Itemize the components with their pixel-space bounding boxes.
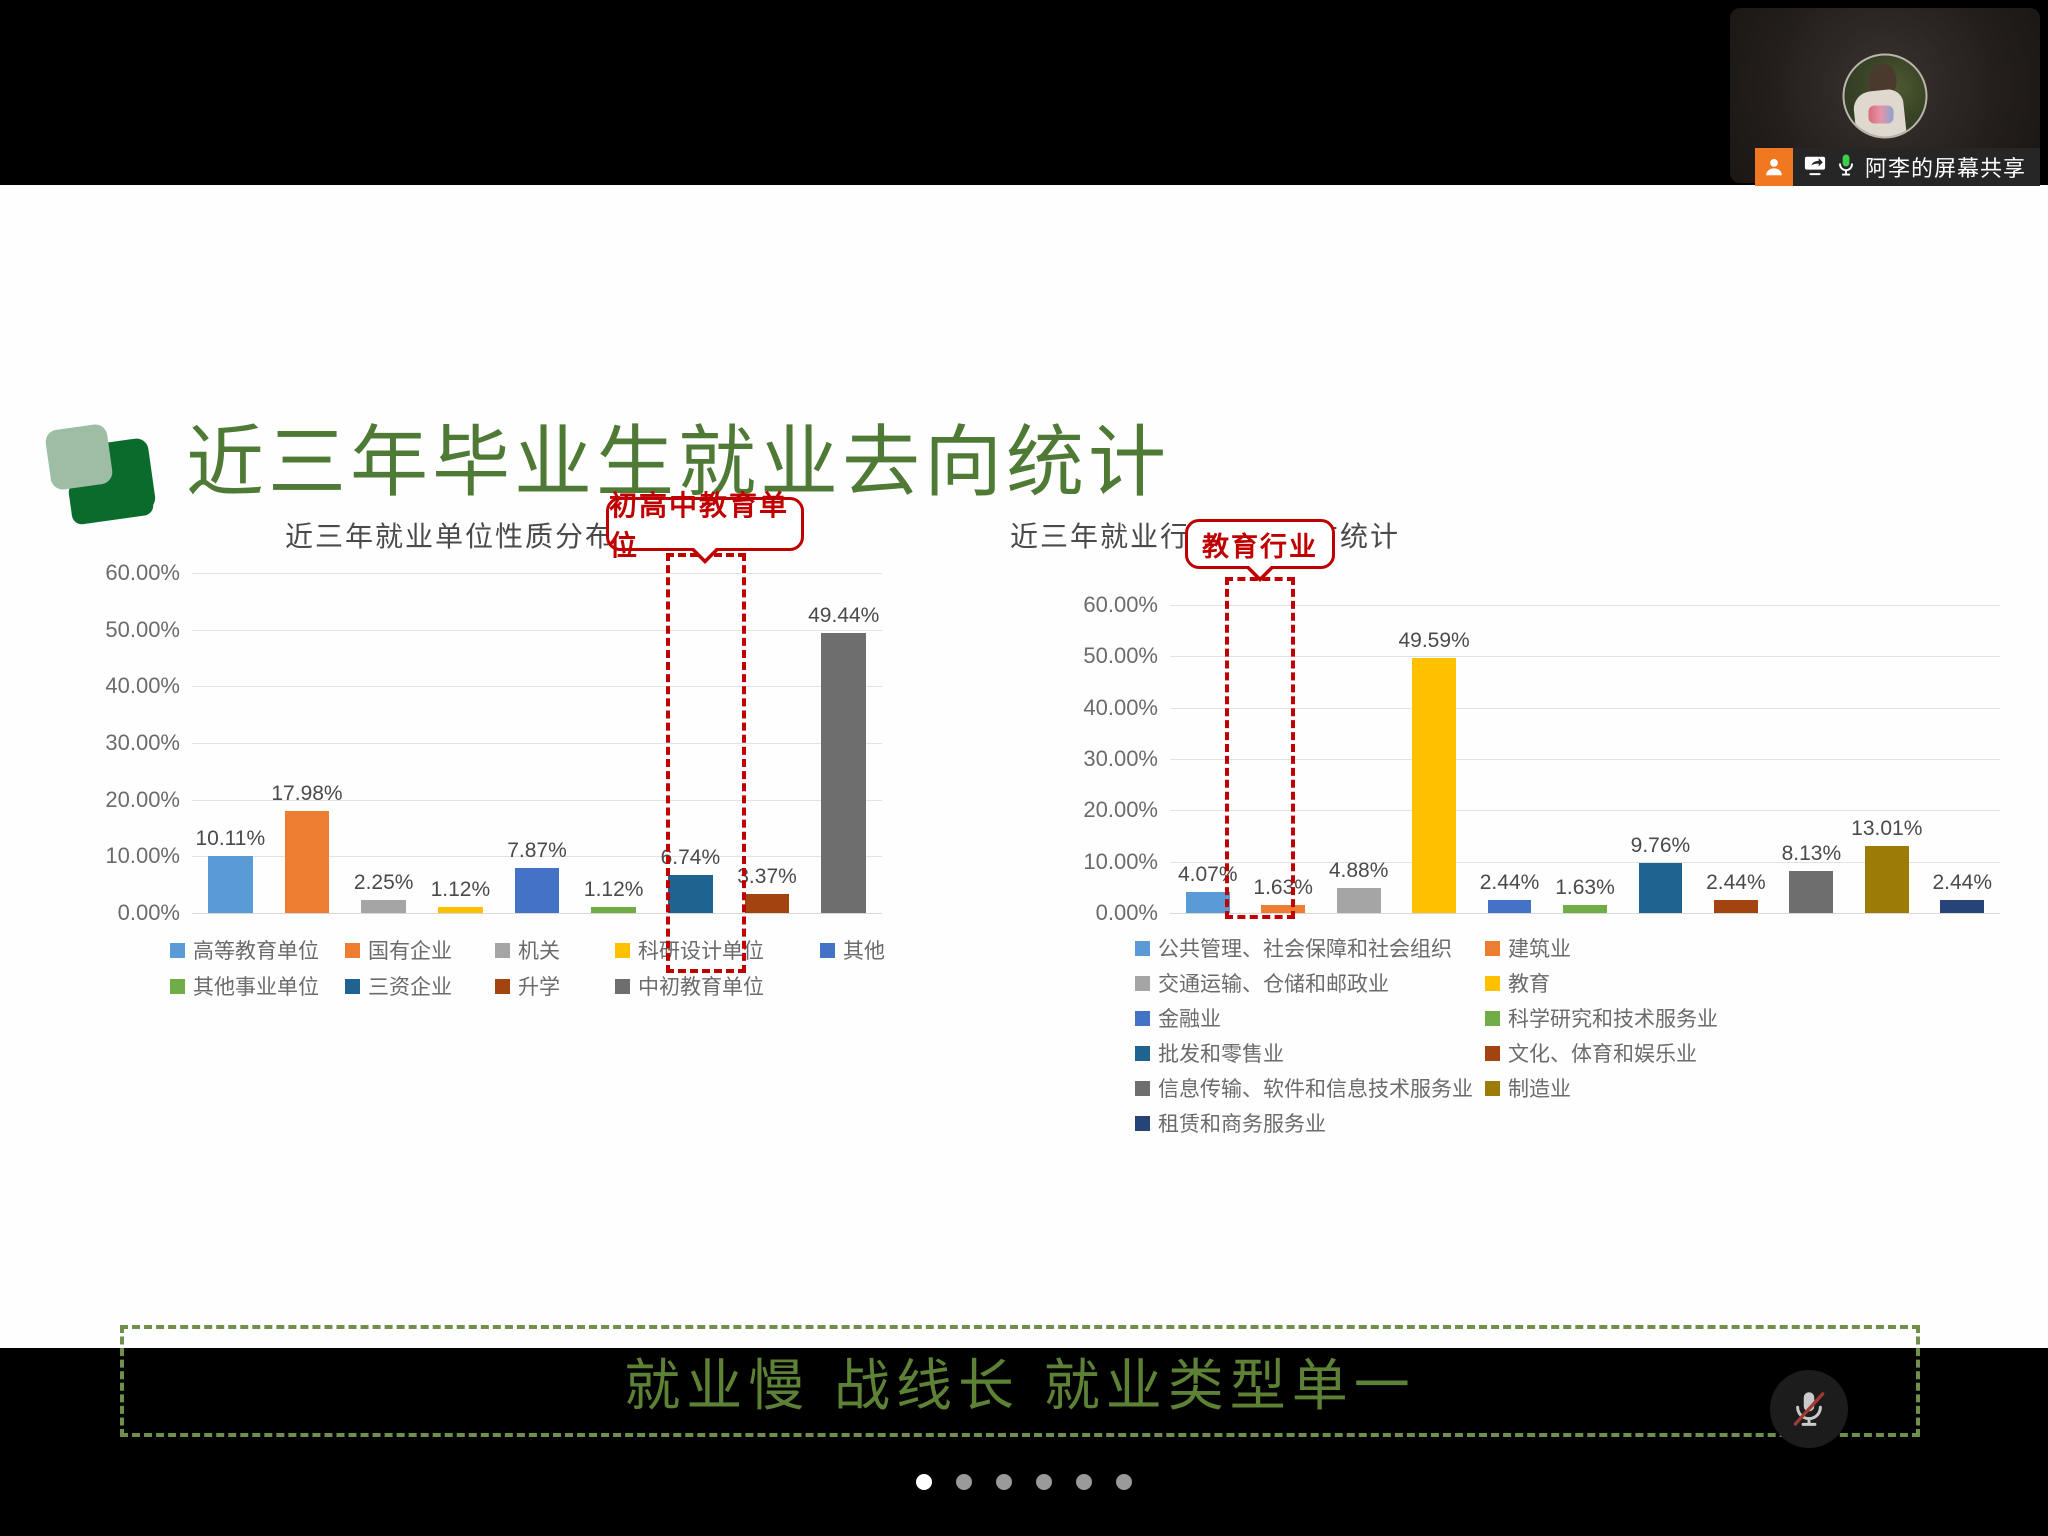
legend-label: 信息传输、软件和信息技术服务业 [1158,1073,1473,1103]
bar-series: 10.11%17.98%2.25%1.12%7.87%1.12%6.74%3.3… [192,573,882,913]
legend-label: 教育 [1508,968,1550,998]
right-chart-legend: 公共管理、社会保障和社会组织建筑业交通运输、仓储和邮政业教育金融业科学研究和技术… [1135,933,1835,1138]
y-axis-tick: 50.00% [1083,643,1170,669]
y-axis-tick: 60.00% [1083,592,1170,618]
bar-slot: 8.13% [1774,605,1849,913]
bar-slot: 49.59% [1396,605,1471,913]
legend-label: 中初教育单位 [638,971,764,1001]
legend-swatch [345,943,360,958]
y-axis-tick: 40.00% [1083,695,1170,721]
legend-item[interactable]: 升学 [495,971,615,1001]
y-axis-tick: 50.00% [105,617,192,643]
page-dot[interactable] [956,1474,972,1490]
left-chart-legend: 高等教育单位国有企业机关科研设计单位其他其他事业单位三资企业升学中初教育单位 [170,935,910,1001]
legend-swatch [495,943,510,958]
gridline [192,913,882,914]
legend-swatch [1485,976,1500,991]
bar-slot: 2.44% [1472,605,1547,913]
screen-share-icon [1803,154,1827,181]
page-dot[interactable] [916,1474,932,1490]
bar-slot: 1.12% [422,573,499,913]
legend-item[interactable]: 建筑业 [1485,933,1835,963]
bar[interactable]: 3.37% [745,894,789,913]
legend-item[interactable]: 交通运输、仓储和邮政业 [1135,968,1485,998]
mute-button[interactable] [1770,1370,1848,1448]
legend-label: 批发和零售业 [1158,1038,1284,1068]
legend-item[interactable]: 其他事业单位 [170,971,345,1001]
legend-label: 机关 [518,935,560,965]
bar-slot: 2.44% [1698,605,1773,913]
bar-value-label: 2.25% [354,871,414,895]
bar-value-label: 1.12% [431,878,491,902]
bar[interactable]: 7.87% [515,868,559,913]
legend-item[interactable]: 机关 [495,935,615,965]
microphone-icon [1837,153,1855,182]
bar-value-label: 2.44% [1706,871,1766,895]
page-dot[interactable] [1076,1474,1092,1490]
y-axis-tick: 60.00% [105,560,192,586]
legend-label: 交通运输、仓储和邮政业 [1158,968,1389,998]
legend-swatch [1135,1116,1150,1131]
legend-label: 升学 [518,971,560,1001]
legend-swatch [1135,976,1150,991]
legend-label: 其他事业单位 [193,971,319,1001]
slide-page-indicator[interactable] [0,1474,2048,1490]
bar-value-label: 49.59% [1398,629,1469,653]
y-axis-tick: 0.00% [1096,900,1170,926]
legend-swatch [1485,1081,1500,1096]
legend-label: 制造业 [1508,1073,1571,1103]
y-axis-tick: 40.00% [105,673,192,699]
left-chart-plot: 0.00%10.00%20.00%30.00%40.00%50.00%60.00… [192,573,882,913]
legend-swatch [345,979,360,994]
page-dot[interactable] [996,1474,1012,1490]
bar[interactable]: 2.44% [1714,900,1758,913]
bar[interactable]: 2.44% [1488,900,1532,913]
y-axis-tick: 30.00% [105,730,192,756]
legend-swatch [1135,1046,1150,1061]
legend-label: 租赁和商务服务业 [1158,1108,1326,1138]
bar[interactable]: 10.11% [208,856,252,913]
legend-item[interactable]: 中初教育单位 [615,971,820,1001]
bar-slot: 7.87% [499,573,576,913]
bar-value-label: 7.87% [507,839,567,863]
avatar [1843,53,1928,138]
y-axis-tick: 10.00% [105,843,192,869]
legend-swatch [170,943,185,958]
legend-item[interactable]: 公共管理、社会保障和社会组织 [1135,933,1485,963]
y-axis-tick: 10.00% [1083,849,1170,875]
bar-slot: 9.76% [1623,605,1698,913]
legend-label: 科学研究和技术服务业 [1508,1003,1718,1033]
legend-label: 其他 [843,935,885,965]
participant-name: 阿李的屏幕共享 [1865,151,2026,183]
bar[interactable]: 49.59% [1412,658,1456,913]
bar-slot: 13.01% [1849,605,1924,913]
legend-item[interactable]: 三资企业 [345,971,495,1001]
legend-swatch [1485,1046,1500,1061]
legend-label: 国有企业 [368,935,452,965]
green-squares-logo [48,423,158,518]
legend-swatch [1485,1011,1500,1026]
legend-item[interactable]: 金融业 [1135,1003,1485,1033]
legend-label: 建筑业 [1508,933,1571,963]
bar[interactable]: 1.12% [438,907,482,913]
right-chart-callout: 教育行业 [1185,519,1335,569]
bar-value-label: 3.37% [737,865,797,889]
bar-value-label: 13.01% [1851,817,1922,841]
bar-value-label: 1.12% [584,878,644,902]
legend-swatch [1135,1011,1150,1026]
bar-slot: 1.63% [1547,605,1622,913]
bar[interactable]: 17.98% [285,811,329,913]
legend-label: 金融业 [1158,1003,1221,1033]
bar-value-label: 10.11% [195,827,265,851]
page-dot[interactable] [1116,1474,1132,1490]
bar-value-label: 49.44% [808,604,879,628]
bar-value-label: 17.98% [271,782,342,806]
summary-banner-text: 就业慢 战线长 就业类型单一 [624,1341,1416,1422]
legend-label: 三资企业 [368,971,452,1001]
bar[interactable]: 13.01% [1865,846,1909,913]
bar[interactable]: 9.76% [1639,863,1683,913]
presentation-slide: 近三年毕业生就业去向统计 近三年就业单位性质分布统计 0.00%10.00%20… [0,185,2048,1348]
legend-swatch [820,943,835,958]
legend-item[interactable]: 教育 [1485,968,1835,998]
legend-swatch [1135,1081,1150,1096]
page-dot[interactable] [1036,1474,1052,1490]
bar-slot: 49.44% [805,573,882,913]
bar-slot: 17.98% [269,573,346,913]
legend-item[interactable]: 制造业 [1485,1073,1835,1103]
bar-value-label: 9.76% [1631,834,1691,858]
bar[interactable]: 4.88% [1337,888,1381,913]
legend-swatch [615,979,630,994]
bar[interactable]: 4.07% [1186,892,1230,913]
right-chart-panel: 近三年就业行业类别分布统计 0.00%10.00%20.00%30.00%40.… [1055,515,2005,1195]
legend-item[interactable]: 租赁和商务服务业 [1135,1108,1485,1138]
bar[interactable]: 49.44% [821,633,865,913]
bar-value-label: 2.44% [1932,871,1992,895]
legend-label: 公共管理、社会保障和社会组织 [1158,933,1452,963]
legend-swatch [170,979,185,994]
legend-item[interactable]: 国有企业 [345,935,495,965]
bar[interactable]: 2.44% [1940,900,1984,913]
screen-share-view: 近三年毕业生就业去向统计 近三年就业单位性质分布统计 0.00%10.00%20… [0,0,2048,1536]
legend-item[interactable]: 批发和零售业 [1135,1038,1485,1068]
legend-item[interactable]: 文化、体育和娱乐业 [1485,1038,1835,1068]
legend-label: 文化、体育和娱乐业 [1508,1038,1697,1068]
y-axis-tick: 20.00% [105,787,192,813]
microphone-muted-icon [1788,1388,1830,1430]
legend-label: 高等教育单位 [193,935,319,965]
bar-slot: 1.12% [575,573,652,913]
bar-slot: 2.25% [345,573,422,913]
y-axis-tick: 30.00% [1083,746,1170,772]
right-callout-label: 教育行业 [1202,525,1318,564]
legend-swatch [1485,941,1500,956]
left-chart-highlight-box [666,553,746,973]
legend-swatch [495,979,510,994]
summary-banner: 就业慢 战线长 就业类型单一 [120,1325,1920,1437]
bar-value-label: 4.88% [1329,859,1389,883]
bar-value-label: 1.63% [1555,876,1615,900]
legend-item[interactable]: 其他 [820,935,910,965]
legend-item[interactable]: 高等教育单位 [170,935,345,965]
participant-name-bar: 阿李的屏幕共享 [1755,148,2040,186]
left-chart-panel: 近三年就业单位性质分布统计 0.00%10.00%20.00%30.00%40.… [100,515,1000,1195]
bar-slot: 4.88% [1321,605,1396,913]
left-chart-callout: 初高中教育单位 [606,497,804,551]
bar-value-label: 2.44% [1480,871,1540,895]
legend-item[interactable]: 科学研究和技术服务业 [1485,1003,1835,1033]
legend-item[interactable]: 信息传输、软件和信息技术服务业 [1135,1073,1485,1103]
host-badge-icon [1755,148,1793,186]
y-axis-tick: 0.00% [118,900,192,926]
bar-slot: 10.11% [192,573,269,913]
bar[interactable]: 2.25% [361,900,405,913]
bar[interactable]: 8.13% [1789,871,1833,913]
legend-swatch [1135,941,1150,956]
bar-value-label: 8.13% [1782,842,1842,866]
y-axis-tick: 20.00% [1083,797,1170,823]
bar[interactable]: 1.63% [1563,905,1607,913]
bar-slot: 2.44% [1925,605,2000,913]
bar[interactable]: 1.12% [591,907,635,913]
right-chart-highlight-box [1225,577,1295,919]
legend-swatch [615,943,630,958]
